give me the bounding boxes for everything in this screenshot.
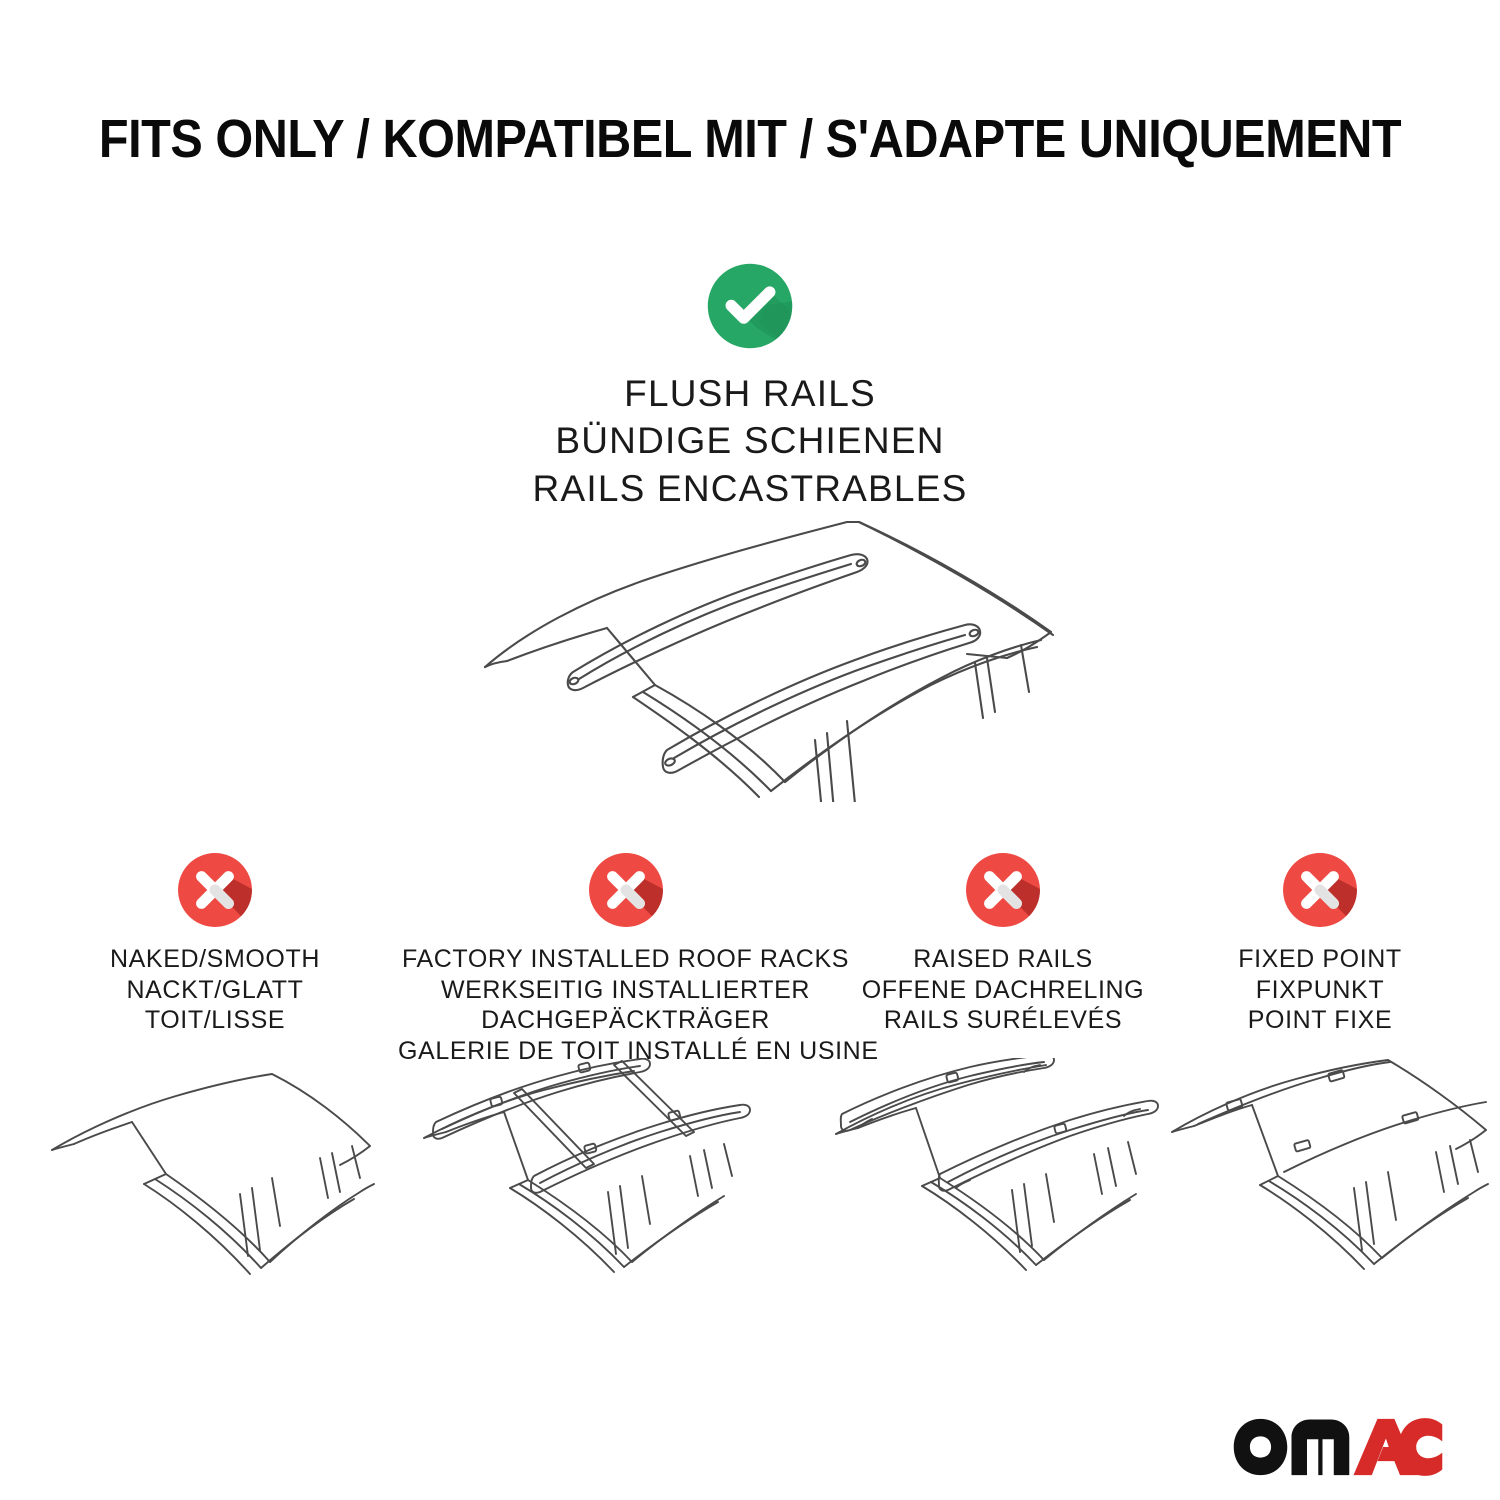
not-compatible-labels-naked-smooth: NAKED/SMOOTH NACKT/GLATT TOIT/LISSE <box>40 944 390 1036</box>
compatible-label-en: FLUSH RAILS <box>533 370 968 417</box>
logo-letter-m <box>1292 1420 1350 1476</box>
car-roof-flush-rails-illustration <box>455 492 1065 802</box>
cross-circle-icon <box>584 848 668 932</box>
fitment-infographic: FITS ONLY / KOMPATIBEL MIT / S'ADAPTE UN… <box>0 0 1500 1500</box>
car-roof-raised-rails-illustration <box>828 1058 1178 1308</box>
car-roof-fixed-point-illustration <box>1168 1058 1500 1308</box>
not-compatible-labels-raised-rails: RAISED RAILS OFFENE DACHRELING RAILS SUR… <box>838 944 1168 1036</box>
cross-circle-icon <box>173 848 257 932</box>
label-line-fr: RAILS SURÉLEVÉS <box>838 1005 1168 1036</box>
label-line-de-2: DACHGEPÄCKTRÄGER <box>398 1005 853 1036</box>
compatible-label-de: BÜNDIGE SCHIENEN <box>533 417 968 464</box>
label-line-de: FIXPUNKT <box>1175 975 1465 1006</box>
check-circle-icon <box>702 258 798 354</box>
logo-letter-o <box>1234 1419 1288 1475</box>
not-compatible-item-factory-roof-racks: FACTORY INSTALLED ROOF RACKS WERKSEITIG … <box>398 848 853 1066</box>
label-line-fr: TOIT/LISSE <box>40 1005 390 1036</box>
label-line-de-1: WERKSEITIG INSTALLIERTER <box>398 975 853 1006</box>
page-title: FITS ONLY / KOMPATIBEL MIT / S'ADAPTE UN… <box>75 108 1425 170</box>
car-roof-naked-smooth-illustration <box>48 1058 388 1308</box>
label-line-en: NAKED/SMOOTH <box>40 944 390 975</box>
compatible-labels: FLUSH RAILS BÜNDIGE SCHIENEN RAILS ENCAS… <box>533 370 968 512</box>
label-line-de: NACKT/GLATT <box>40 975 390 1006</box>
not-compatible-item-raised-rails: RAISED RAILS OFFENE DACHRELING RAILS SUR… <box>838 848 1168 1036</box>
car-roof-factory-racks-illustration <box>418 1058 768 1308</box>
not-compatible-section: NAKED/SMOOTH NACKT/GLATT TOIT/LISSE <box>0 848 1500 1048</box>
cross-circle-icon <box>1278 848 1362 932</box>
fixed-point-marker <box>1294 1140 1311 1152</box>
cross-circle-icon <box>961 848 1045 932</box>
compatible-section: FLUSH RAILS BÜNDIGE SCHIENEN RAILS ENCAS… <box>0 258 1500 512</box>
not-compatible-item-fixed-point: FIXED POINT FIXPUNKT POINT FIXE <box>1175 848 1465 1036</box>
not-compatible-item-naked-smooth: NAKED/SMOOTH NACKT/GLATT TOIT/LISSE <box>40 848 390 1036</box>
label-line-de: OFFENE DACHRELING <box>838 975 1168 1006</box>
label-line-fr: POINT FIXE <box>1175 1005 1465 1036</box>
fixed-point-marker <box>1402 1112 1419 1124</box>
not-compatible-labels-fixed-point: FIXED POINT FIXPUNKT POINT FIXE <box>1175 944 1465 1036</box>
label-line-en: FACTORY INSTALLED ROOF RACKS <box>398 944 853 975</box>
not-compatible-labels-factory-roof-racks: FACTORY INSTALLED ROOF RACKS WERKSEITIG … <box>398 944 853 1066</box>
label-line-en: FIXED POINT <box>1175 944 1465 975</box>
omac-logo: OMAC <box>1204 1416 1472 1478</box>
label-line-en: RAISED RAILS <box>838 944 1168 975</box>
